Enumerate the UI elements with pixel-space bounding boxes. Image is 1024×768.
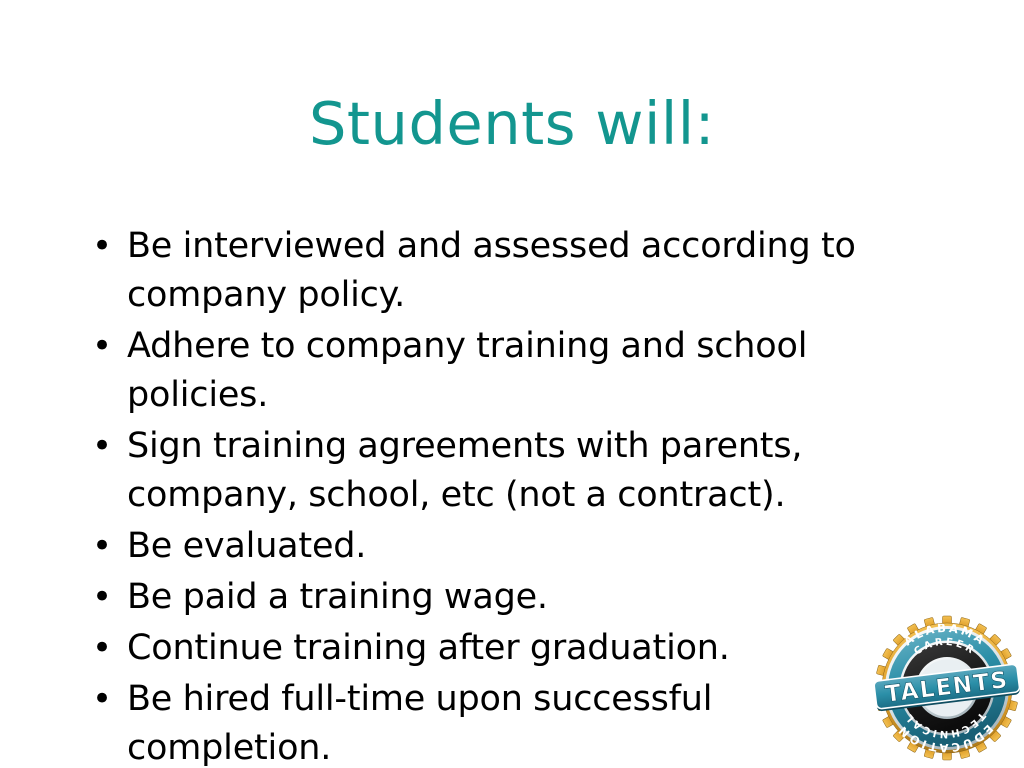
list-item: • Sign training agreements with parents,… [88,422,918,520]
bullet-marker-icon: • [88,222,127,271]
bullet-text: Sign training agreements with parents, c… [127,422,917,520]
list-item: • Continue training after graduation. [88,624,918,673]
bullet-marker-icon: • [88,322,127,371]
bullet-text: Adhere to company training and school po… [127,322,917,420]
bullet-marker-icon: • [88,422,127,471]
bullet-marker-icon: • [88,573,127,622]
bullet-text: Be evaluated. [127,522,917,571]
bullet-text: Be hired full-time upon successful compl… [127,675,917,768]
bullet-text: Continue training after graduation. [127,624,917,673]
bullet-list: • Be interviewed and assessed according … [88,222,918,768]
list-item: • Be paid a training wage. [88,573,918,622]
list-item: • Be interviewed and assessed according … [88,222,918,320]
list-item: • Be hired full-time upon successful com… [88,675,918,768]
bullet-marker-icon: • [88,675,127,724]
bullet-marker-icon: • [88,624,127,673]
bullet-text: Be interviewed and assessed according to… [127,222,917,320]
list-item: • Adhere to company training and school … [88,322,918,420]
list-item: • Be evaluated. [88,522,918,571]
bullet-text: Be paid a training wage. [127,573,917,622]
bullet-marker-icon: • [88,522,127,571]
talents-logo: ALABAMA EDUCATION CAREER TECHNICAL TALEN… [869,612,1021,764]
slide: Students will: • Be interviewed and asse… [0,0,1024,768]
page-title: Students will: [0,92,1024,156]
